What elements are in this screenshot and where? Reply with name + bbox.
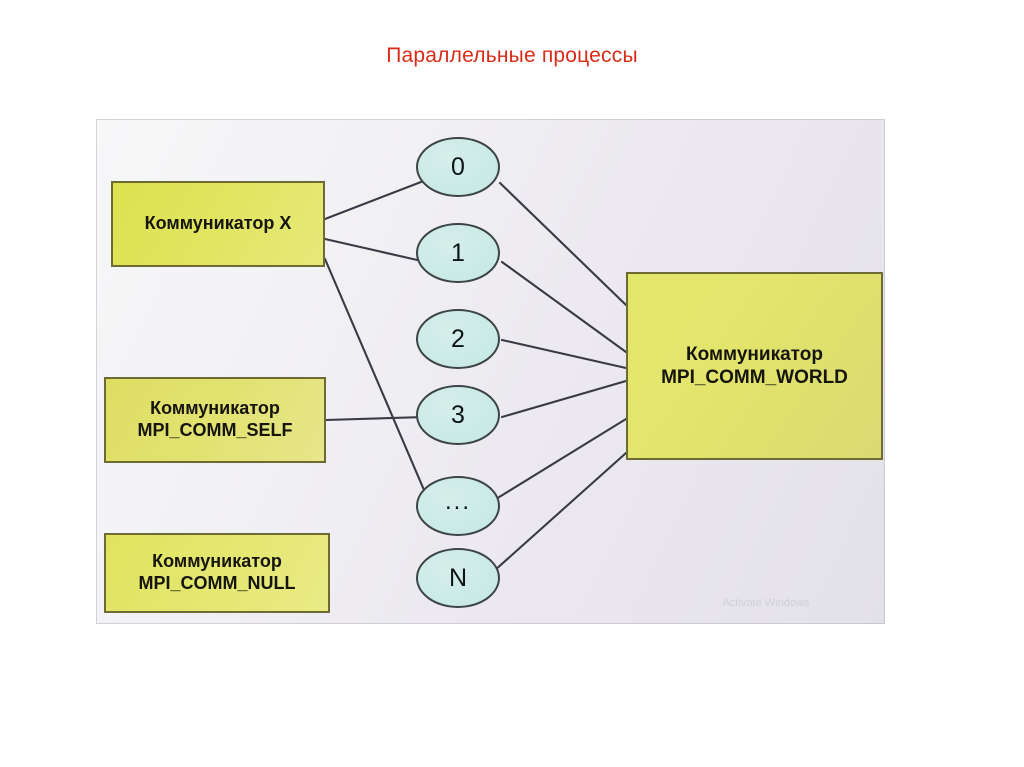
edge-p1-to-comm-world — [502, 262, 626, 352]
edge-pn-to-comm-world — [494, 453, 626, 571]
box-communicator-mpi-comm-null-line-2: MPI_COMM_NULL — [139, 573, 296, 595]
edge-p3-to-comm-world — [502, 381, 626, 417]
process-node-3-label: 3 — [451, 401, 465, 430]
process-node-0[interactable]: 0 — [416, 137, 500, 197]
edge-comm-self-to-p3 — [326, 417, 425, 420]
box-communicator-mpi-comm-self[interactable]: Коммуникатор MPI_COMM_SELF — [104, 377, 326, 463]
diagram-panel: Коммуникатор X Коммуникатор MPI_COMM_SEL… — [96, 119, 885, 624]
activate-windows-watermark: Activate Windows — [676, 597, 856, 609]
box-communicator-mpi-comm-self-line-1: Коммуникатор — [137, 398, 292, 420]
page-title: Параллельные процессы — [0, 44, 1024, 68]
process-node-1[interactable]: 1 — [416, 223, 500, 283]
box-communicator-mpi-comm-null-line-1: Коммуникатор — [139, 551, 296, 573]
box-communicator-x-line-1: Коммуникатор X — [145, 213, 292, 235]
box-communicator-mpi-comm-world-line-2: MPI_COMM_WORLD — [661, 366, 848, 389]
process-node-n-label: N — [449, 564, 467, 593]
slide-canvas: Параллельные процессы Коммуникатор X — [0, 0, 1024, 767]
edge-comm-x-to-p1 — [325, 239, 426, 262]
box-communicator-mpi-comm-self-line-2: MPI_COMM_SELF — [137, 420, 292, 442]
process-node-2-label: 2 — [451, 325, 465, 354]
edge-p2-to-comm-world — [502, 340, 626, 368]
edge-comm-x-to-pdots — [325, 259, 433, 511]
process-node-ellipsis[interactable]: ... — [416, 476, 500, 536]
process-node-n[interactable]: N — [416, 548, 500, 608]
box-communicator-x[interactable]: Коммуникатор X — [111, 181, 325, 267]
process-node-1-label: 1 — [451, 239, 465, 268]
edge-p0-to-comm-world — [500, 183, 626, 305]
process-node-ellipsis-label: ... — [445, 488, 471, 516]
box-communicator-mpi-comm-null[interactable]: Коммуникатор MPI_COMM_NULL — [104, 533, 330, 613]
edge-comm-x-to-p0 — [325, 177, 434, 219]
edge-pdots-to-comm-world — [496, 419, 626, 499]
box-communicator-mpi-comm-world-line-1: Коммуникатор — [661, 343, 848, 366]
process-node-0-label: 0 — [451, 153, 465, 182]
process-node-2[interactable]: 2 — [416, 309, 500, 369]
box-communicator-mpi-comm-world[interactable]: Коммуникатор MPI_COMM_WORLD — [626, 272, 883, 460]
process-node-3[interactable]: 3 — [416, 385, 500, 445]
